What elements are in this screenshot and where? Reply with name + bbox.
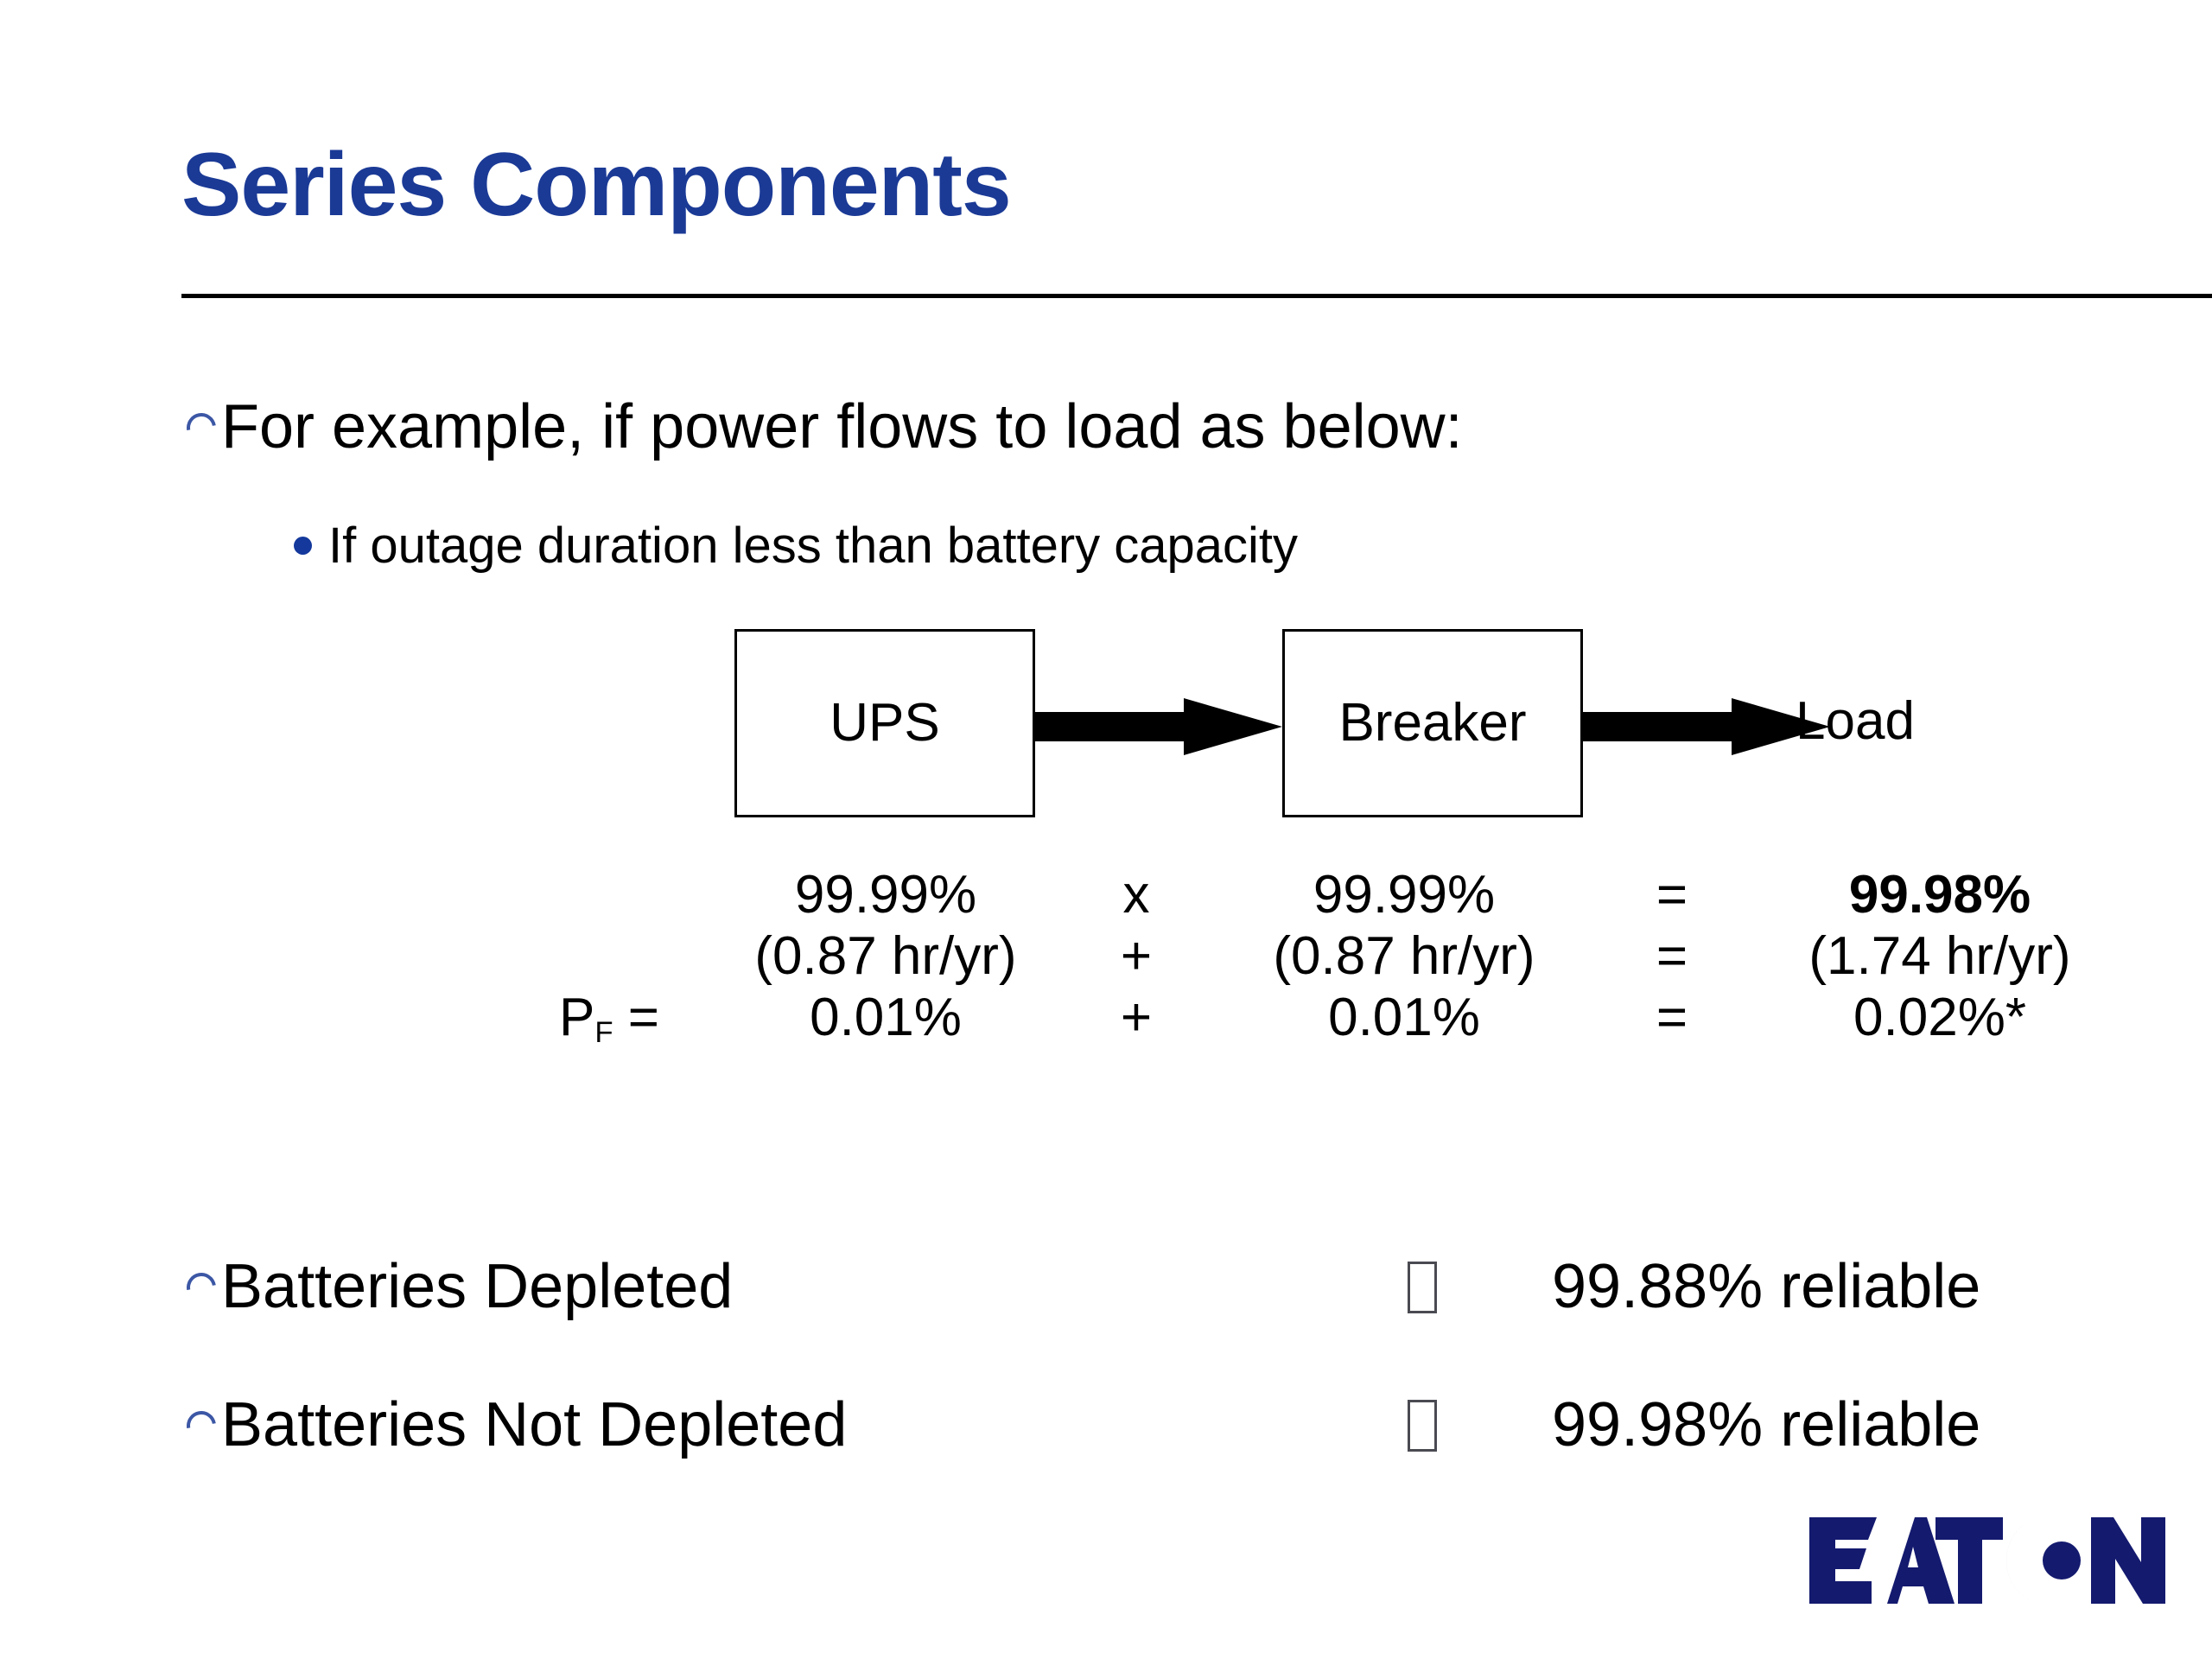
diagram-node-ups: UPS (734, 629, 1035, 817)
flow-arrow-icon-2 (1583, 698, 1830, 755)
bullet-item-condition: If outage duration less than battery cap… (276, 518, 1298, 574)
slide-canvas: Series Components For example, if power … (0, 0, 2212, 1659)
title-block: Series Components (181, 138, 2195, 232)
table-row: 99.99% x 99.99% = 99.98% (518, 864, 2143, 925)
diagram-node-breaker: Breaker (1282, 629, 1583, 817)
calc-row-label (518, 864, 700, 925)
calc-pf-label: PF = (518, 987, 700, 1048)
missing-glyph-box-icon (1293, 1262, 1552, 1313)
calc-operator: + (1071, 987, 1201, 1048)
flow-arrow-icon-1 (1035, 698, 1282, 755)
reliability-calculation-table: 99.99% x 99.99% = 99.98% (0.87 hr/yr) + … (518, 864, 2143, 1049)
calc-equals: = (1607, 925, 1737, 987)
summary-row-batteries-not-depleted: Batteries Not Depleted 99.98% reliable (181, 1391, 2143, 1459)
eaton-logo (1806, 1514, 2169, 1607)
calc-result-hours: (1.74 hr/yr) (1737, 925, 2143, 987)
calc-equals: = (1607, 987, 1737, 1048)
table-row: PF = 0.01% + 0.01% = 0.02%* (518, 987, 2143, 1048)
calc-result-pf: 0.02%* (1737, 987, 2143, 1048)
calc-equals: = (1607, 864, 1737, 925)
summary-value-batteries-depleted: 99.88% reliable (1552, 1253, 2143, 1321)
calc-breaker-hours: (0.87 hr/yr) (1201, 925, 1607, 987)
page-title: Series Components (181, 138, 2195, 232)
bullet-intro-label: For example, if power flows to load as b… (221, 393, 1463, 461)
bullet-item-intro: For example, if power flows to load as b… (181, 393, 1463, 461)
calc-row-label (518, 925, 700, 987)
calc-operator: x (1071, 864, 1201, 925)
summary-row-batteries-depleted: Batteries Depleted 99.88% reliable (181, 1253, 2143, 1321)
summary-label-batteries-not-depleted: Batteries Not Depleted (221, 1391, 1293, 1459)
calc-breaker-value: 99.99% (1201, 864, 1607, 925)
calc-breaker-pf: 0.01% (1201, 987, 1607, 1048)
pf-equals: = (628, 988, 659, 1047)
calc-ups-value: 99.99% (700, 864, 1071, 925)
power-flow-diagram: UPS Breaker Load (734, 629, 2031, 819)
calc-result-value: 99.98% (1737, 864, 2143, 925)
calc-ups-pf: 0.01% (700, 987, 1071, 1048)
diagram-node-breaker-label: Breaker (1338, 696, 1526, 750)
diagram-node-ups-label: UPS (829, 696, 939, 750)
crescent-bullet-icon (181, 413, 221, 442)
missing-glyph-box-icon (1293, 1400, 1552, 1452)
bullet-condition-label: If outage duration less than battery cap… (328, 518, 1298, 574)
crescent-bullet-icon (181, 1273, 221, 1302)
pf-subscript: F (594, 1016, 613, 1049)
crescent-bullet-icon (181, 1411, 221, 1440)
calc-operator: + (1071, 925, 1201, 987)
summary-value-batteries-not-depleted: 99.98% reliable (1552, 1391, 2143, 1459)
pf-symbol: P (559, 988, 594, 1047)
title-divider-rule (181, 294, 2212, 298)
table-row: (0.87 hr/yr) + (0.87 hr/yr) = (1.74 hr/y… (518, 925, 2143, 987)
dot-bullet-icon (276, 537, 328, 555)
summary-label-batteries-depleted: Batteries Depleted (221, 1253, 1293, 1321)
calc-ups-hours: (0.87 hr/yr) (700, 925, 1071, 987)
diagram-load-label: Load (1796, 695, 1915, 748)
